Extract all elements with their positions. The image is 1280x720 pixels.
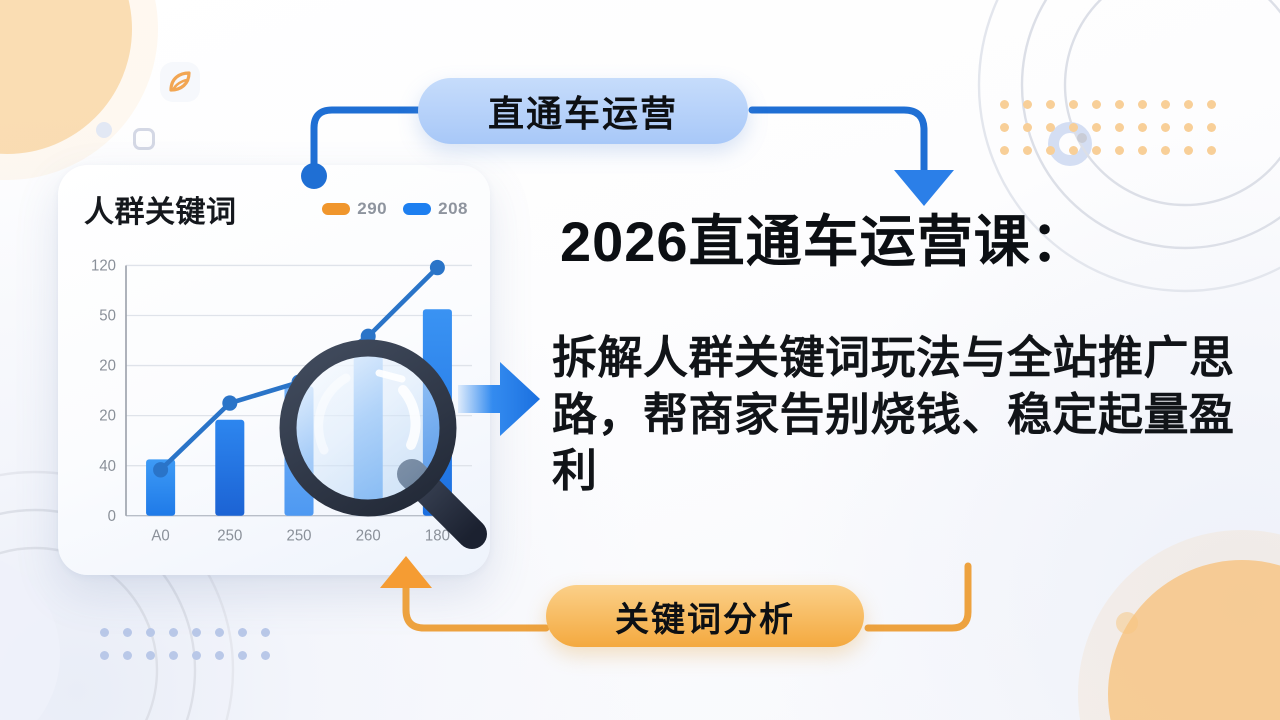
chart-bar [284, 386, 313, 515]
chart-title: 人群关键词 [84, 187, 237, 231]
poster-canvas: 人群关键词 290 208 [0, 0, 1280, 720]
chart-x-tick: A0 [151, 527, 169, 544]
chart-bar [354, 347, 383, 516]
decor-dotgrid-blue [100, 628, 270, 660]
wire-pill-right-tail [868, 566, 968, 628]
leaf-icon [167, 69, 193, 95]
legend-swatch-blue-icon [403, 203, 431, 215]
legend-label-blue: 208 [438, 199, 468, 219]
chart-line-marker [430, 260, 445, 275]
chart-y-tick: 20 [99, 358, 116, 375]
legend-swatch-orange-icon [322, 203, 350, 215]
wire-pill-to-chart [406, 586, 546, 628]
arrow-down-icon [894, 170, 954, 206]
chart-y-axis-labels: 120502020400 [91, 257, 116, 524]
chart-line-marker [153, 462, 168, 477]
chart-y-tick: 20 [99, 408, 116, 425]
decor-rounded-square [133, 128, 155, 150]
wire-pill-to-headline [752, 110, 924, 172]
legend-label-orange: 290 [357, 199, 387, 219]
chart-bar [423, 309, 452, 515]
chart-card: 人群关键词 290 208 [58, 165, 490, 575]
decor-dotgrid-orange [1000, 100, 1216, 155]
decor-dot-orange [1116, 612, 1138, 634]
badge-pill-top[interactable]: 直通车运营 [418, 78, 748, 144]
legend-item-orange: 290 [322, 199, 387, 219]
chart-card-header: 人群关键词 290 208 [84, 187, 468, 231]
decor-ring-blue [1048, 122, 1092, 166]
chart-x-tick: 250 [217, 527, 242, 544]
chart-x-tick: 250 [286, 527, 311, 544]
decor-blob-bottom-left [0, 550, 60, 720]
chart-line-marker [292, 375, 307, 390]
decor-blob-bottom-right [1108, 560, 1280, 720]
chart-y-tick: 50 [99, 307, 116, 324]
chart-bar [215, 420, 244, 516]
chart-y-tick: 120 [91, 257, 116, 274]
chart-x-tick: 260 [356, 527, 381, 544]
legend-item-blue: 208 [403, 199, 468, 219]
chart-line-marker [222, 395, 237, 410]
badge-pill-bottom[interactable]: 关键词分析 [546, 585, 864, 647]
chart-y-tick: 0 [108, 508, 116, 525]
chart-bars [146, 309, 452, 515]
wire-pill-to-card [314, 110, 418, 170]
chart-svg: 120502020400 A0250250260180 [76, 247, 480, 567]
decor-dot-blue [96, 122, 112, 138]
chart-y-tick: 40 [99, 458, 116, 475]
chart-line-marker [361, 329, 376, 344]
poster-headline: 2026直通车运营课： [560, 212, 1250, 272]
chart-legend: 290 208 [322, 199, 468, 219]
chart-x-tick: 180 [425, 527, 450, 544]
chart-plot-area: 120502020400 A0250250260180 [76, 247, 480, 567]
decor-blob-top-left [0, 0, 132, 154]
chart-x-axis-labels: A0250250260180 [151, 527, 449, 544]
poster-subcopy: 拆解人群关键词玩法与全站推广思路，帮商家告别烧钱、稳定起量盈利 [552, 330, 1252, 500]
decor-badge-shape [160, 62, 200, 102]
